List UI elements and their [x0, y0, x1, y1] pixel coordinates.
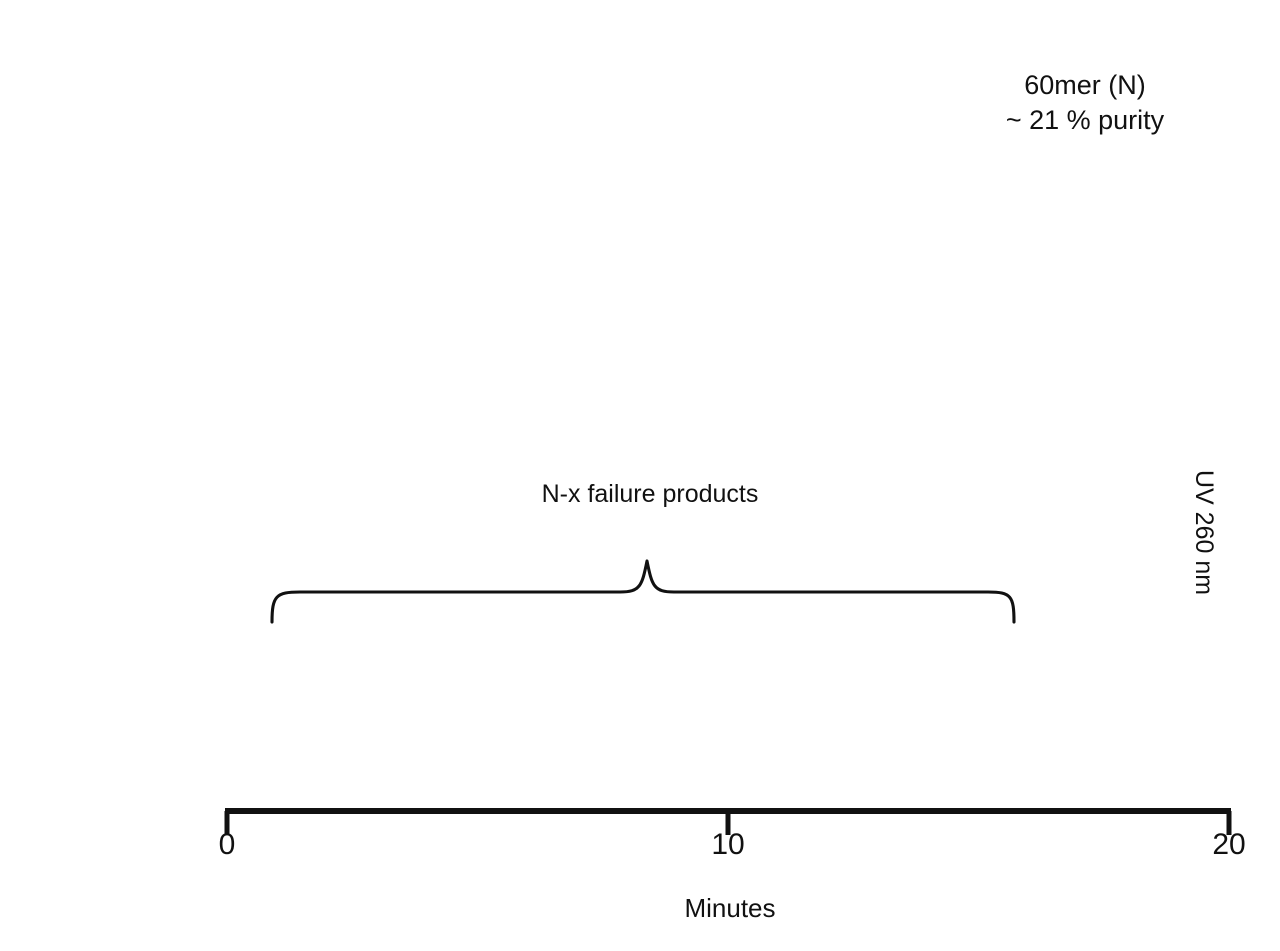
- x-axis-tick-label-10: 10: [688, 828, 768, 862]
- figure-root: 60mer (N) ~ 21 % purity N-x failure prod…: [0, 0, 1280, 951]
- main-peak-label: 60mer (N) ~ 21 % purity: [940, 68, 1230, 138]
- main-peak-label-line1: 60mer (N): [940, 68, 1230, 103]
- x-axis-tick-label-20: 20: [1189, 828, 1269, 862]
- main-peak-label-line2: ~ 21 % purity: [940, 103, 1230, 138]
- chromatogram-chart: [0, 0, 1280, 951]
- x-axis-tick-label-0: 0: [187, 828, 267, 862]
- y-axis-label: UV 260 nm: [1189, 470, 1218, 595]
- failure-products-label: N-x failure products: [400, 480, 900, 509]
- x-axis-title: Minutes: [590, 893, 870, 924]
- failure-products-brace: [272, 561, 1014, 622]
